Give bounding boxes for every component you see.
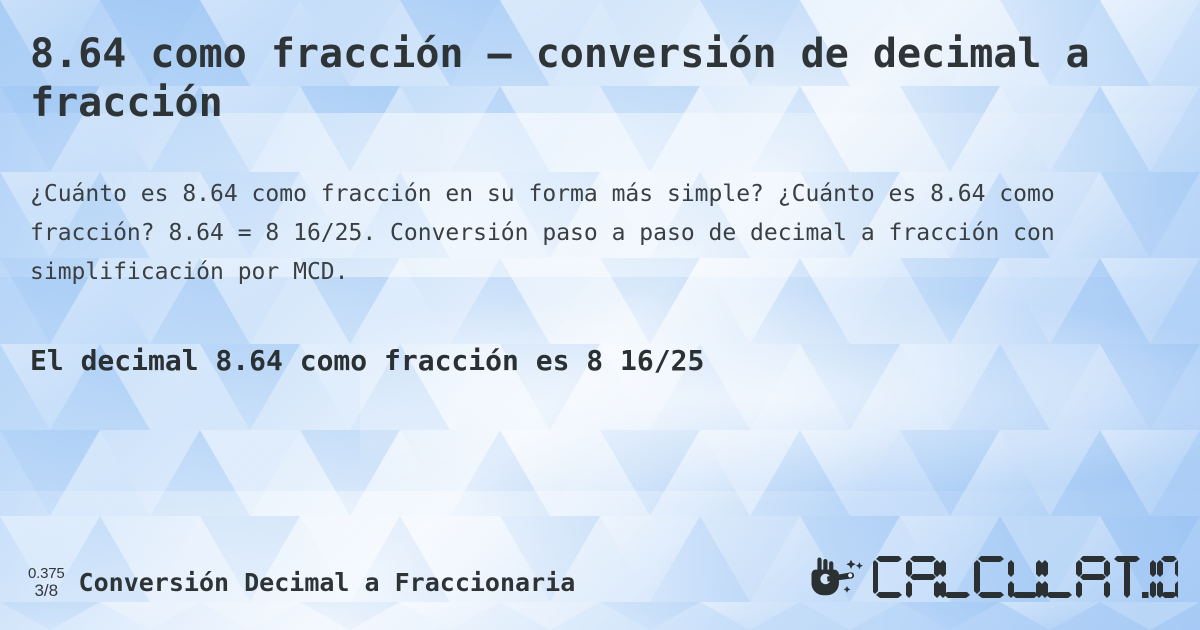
og-card: 8.64 como fracción – conversión de decim… [0, 0, 1200, 630]
page-title: 8.64 como fracción – conversión de decim… [30, 30, 1090, 128]
footer: 0.375 3/8 Conversión Decimal a Fracciona… [0, 534, 1200, 630]
logo-wordmark [873, 554, 1178, 604]
hand-wand-icon [809, 555, 867, 603]
fraction-example-fraction: 3/8 [34, 582, 58, 600]
footer-section-title: Conversión Decimal a Fraccionaria [79, 568, 576, 597]
page-description: ¿Cuánto es 8.64 como fracción en su form… [30, 175, 1128, 292]
answer-statement: El decimal 8.64 como fracción es 8 16/25 [30, 343, 704, 379]
site-logo[interactable] [809, 554, 1178, 604]
footer-brand-left: 0.375 3/8 Conversión Decimal a Fracciona… [28, 564, 575, 600]
fraction-example-decimal: 0.375 [28, 566, 65, 582]
fraction-example-icon: 0.375 3/8 [28, 564, 65, 600]
